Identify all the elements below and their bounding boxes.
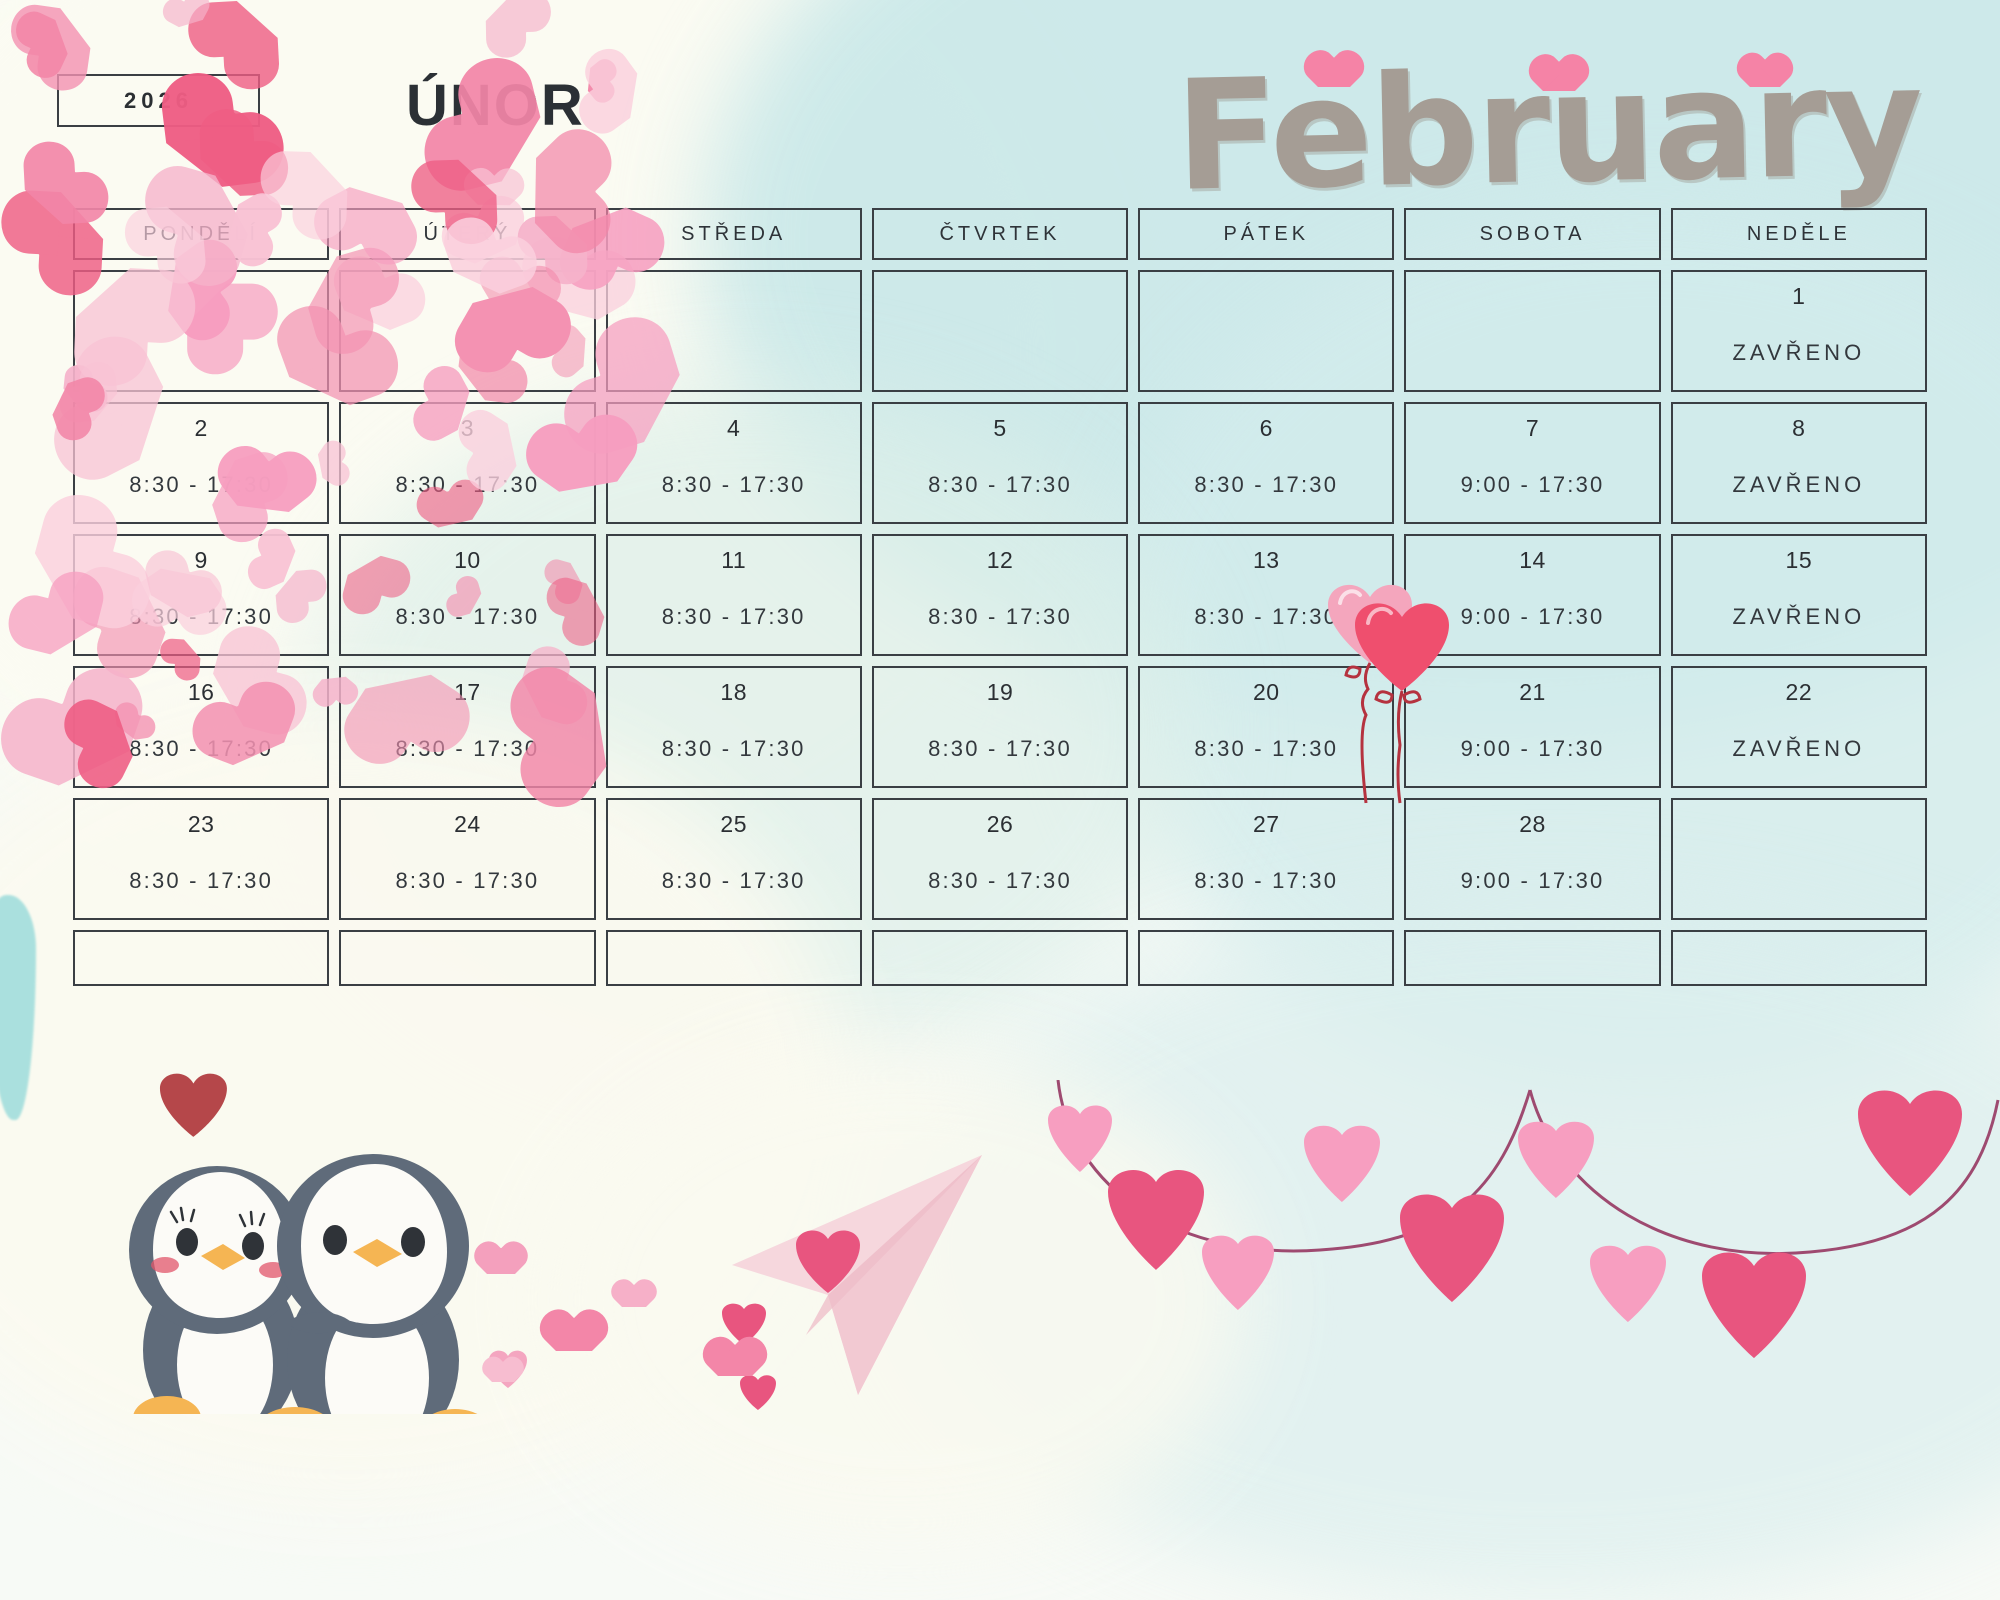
day-number: 2 — [75, 415, 327, 442]
weekday-header-label: SOBOTA — [1480, 223, 1586, 246]
opening-hours: 8:30 - 17:30 — [608, 868, 860, 894]
decor-heart-icon — [1750, 60, 1780, 87]
weekday-header-label: STŘEDA — [681, 223, 786, 246]
decor-heart-icon — [487, 1248, 515, 1274]
calendar-day-cell[interactable]: 79:00 - 17:30 — [1404, 402, 1660, 524]
calendar-day-cell[interactable] — [1138, 270, 1394, 392]
calendar-day-cell[interactable]: 258:30 - 17:30 — [606, 798, 862, 920]
weekday-header-cell: ÚTERÝ — [339, 208, 595, 260]
calendar-day-cell[interactable] — [872, 930, 1128, 986]
calendar-day-cell[interactable]: 38:30 - 17:30 — [339, 402, 595, 524]
calendar-day-cell[interactable]: 15ZAVŘENO — [1671, 534, 1927, 656]
day-number: 1 — [1673, 283, 1925, 310]
opening-hours: 8:30 - 17:30 — [608, 736, 860, 762]
calendar-day-cell[interactable]: 188:30 - 17:30 — [606, 666, 862, 788]
day-number: 12 — [874, 547, 1126, 574]
calendar-day-cell[interactable]: 278:30 - 17:30 — [1138, 798, 1394, 920]
day-number: 28 — [1406, 811, 1658, 838]
calendar-day-cell[interactable]: 128:30 - 17:30 — [872, 534, 1128, 656]
calendar-day-cell[interactable]: 198:30 - 17:30 — [872, 666, 1128, 788]
year-box: 2026 — [57, 74, 260, 127]
decor-heart-icon — [622, 1285, 646, 1307]
opening-hours: 8:30 - 17:30 — [608, 472, 860, 498]
weekday-header-cell: SOBOTA — [1404, 208, 1660, 260]
paper-plane-icon — [710, 1145, 1040, 1415]
decor-heart-icon — [1543, 62, 1575, 91]
calendar-day-cell[interactable]: 8ZAVŘENO — [1671, 402, 1927, 524]
day-number: 27 — [1140, 811, 1392, 838]
opening-hours: 8:30 - 17:30 — [75, 868, 327, 894]
weekday-header-label: NEDĚLE — [1747, 223, 1851, 246]
year-label: 2026 — [124, 88, 193, 114]
calendar-day-cell[interactable]: 238:30 - 17:30 — [73, 798, 329, 920]
calendar-day-cell[interactable] — [1138, 930, 1394, 986]
opening-hours: 8:30 - 17:30 — [874, 736, 1126, 762]
calendar-day-cell[interactable]: 58:30 - 17:30 — [872, 402, 1128, 524]
day-number: 15 — [1673, 547, 1925, 574]
calendar-day-cell[interactable]: 108:30 - 17:30 — [339, 534, 595, 656]
day-number: 10 — [341, 547, 593, 574]
calendar-day-cell[interactable]: 98:30 - 17:30 — [73, 534, 329, 656]
weekday-header-cell: PÁTEK — [1138, 208, 1394, 260]
weekday-header-label: ÚTERÝ — [424, 223, 512, 246]
weekday-header-cell: PONDĚLÍ — [73, 208, 329, 260]
calendar-day-cell[interactable]: 178:30 - 17:30 — [339, 666, 595, 788]
penguin-pair-illustration — [95, 1060, 535, 1414]
calendar-day-cell[interactable]: 48:30 - 17:30 — [606, 402, 862, 524]
weekday-header-label: PONDĚLÍ — [143, 223, 259, 246]
day-number: 4 — [608, 415, 860, 442]
weekday-header-cell: ČTVRTEK — [872, 208, 1128, 260]
opening-hours: 8:30 - 17:30 — [608, 604, 860, 630]
calendar-day-cell[interactable]: 28:30 - 17:30 — [73, 402, 329, 524]
calendar-day-cell[interactable] — [73, 930, 329, 986]
closed-label: ZAVŘENO — [1673, 736, 1925, 762]
calendar-grid: PONDĚLÍ ÚTERÝ STŘEDA ČTVRTEK PÁTEK SOBOT… — [73, 208, 1927, 996]
calendar-day-cell[interactable] — [1404, 270, 1660, 392]
decor-heart-icon — [718, 1345, 752, 1376]
calendar-day-cell[interactable] — [872, 270, 1128, 392]
opening-hours: 8:30 - 17:30 — [1140, 472, 1392, 498]
calendar-day-cell[interactable]: 248:30 - 17:30 — [339, 798, 595, 920]
weekday-header-row: PONDĚLÍ ÚTERÝ STŘEDA ČTVRTEK PÁTEK SOBOT… — [73, 208, 1927, 260]
day-number: 9 — [75, 547, 327, 574]
closed-label: ZAVŘENO — [1673, 340, 1925, 366]
day-number: 22 — [1673, 679, 1925, 706]
day-number: 11 — [608, 547, 860, 574]
opening-hours: 8:30 - 17:30 — [1140, 868, 1392, 894]
calendar-day-cell[interactable]: 168:30 - 17:30 — [73, 666, 329, 788]
closed-label: ZAVŘENO — [1673, 472, 1925, 498]
weekday-header-label: ČTVRTEK — [939, 223, 1060, 246]
calendar-day-cell[interactable] — [339, 270, 595, 392]
day-number: 18 — [608, 679, 860, 706]
calendar-day-cell[interactable] — [1404, 930, 1660, 986]
opening-hours: 8:30 - 17:30 — [75, 472, 327, 498]
month-title-cz: ÚNOR — [406, 72, 585, 139]
calendar-week-row: 238:30 - 17:30248:30 - 17:30258:30 - 17:… — [73, 798, 1927, 920]
calendar-day-cell[interactable] — [1671, 798, 1927, 920]
opening-hours: 8:30 - 17:30 — [874, 604, 1126, 630]
weekday-header-cell: STŘEDA — [606, 208, 862, 260]
day-number: 23 — [75, 811, 327, 838]
day-number: 25 — [608, 811, 860, 838]
day-number: 7 — [1406, 415, 1658, 442]
closed-label: ZAVŘENO — [1673, 604, 1925, 630]
day-number: 8 — [1673, 415, 1925, 442]
day-number: 24 — [341, 811, 593, 838]
calendar-day-cell[interactable] — [1671, 930, 1927, 986]
calendar-day-cell[interactable] — [339, 930, 595, 986]
day-number: 26 — [874, 811, 1126, 838]
calendar-day-cell[interactable]: 118:30 - 17:30 — [606, 534, 862, 656]
decor-heart-icon — [492, 1362, 514, 1382]
opening-hours: 9:00 - 17:30 — [1406, 868, 1658, 894]
calendar-day-cell[interactable]: 289:00 - 17:30 — [1404, 798, 1660, 920]
opening-hours: 8:30 - 17:30 — [874, 868, 1126, 894]
calendar-day-cell[interactable] — [73, 270, 329, 392]
opening-hours: 8:30 - 17:30 — [341, 868, 593, 894]
calendar-day-cell[interactable]: 68:30 - 17:30 — [1138, 402, 1394, 524]
calendar-day-cell[interactable]: 1ZAVŘENO — [1671, 270, 1927, 392]
decor-heart-icon — [556, 1318, 592, 1351]
calendar-notes-row — [73, 930, 1927, 986]
day-number: 16 — [75, 679, 327, 706]
day-number: 17 — [341, 679, 593, 706]
calendar-week-row: 98:30 - 17:30108:30 - 17:30118:30 - 17:3… — [73, 534, 1927, 656]
calendar-day-cell[interactable] — [606, 930, 862, 986]
day-number: 5 — [874, 415, 1126, 442]
calendar-week-row: 28:30 - 17:3038:30 - 17:3048:30 - 17:305… — [73, 402, 1927, 524]
calendar-day-cell[interactable]: 22ZAVŘENO — [1671, 666, 1927, 788]
day-number: 3 — [341, 415, 593, 442]
opening-hours: 8:30 - 17:30 — [874, 472, 1126, 498]
day-number: 6 — [1140, 415, 1392, 442]
opening-hours: 9:00 - 17:30 — [1406, 472, 1658, 498]
calendar-day-cell[interactable]: 268:30 - 17:30 — [872, 798, 1128, 920]
opening-hours: 8:30 - 17:30 — [75, 604, 327, 630]
opening-hours: 8:30 - 17:30 — [341, 472, 593, 498]
calendar-day-cell[interactable] — [606, 270, 862, 392]
calendar-week-row: 168:30 - 17:30178:30 - 17:30188:30 - 17:… — [73, 666, 1927, 788]
calendar-week-row: 1ZAVŘENO — [73, 270, 1927, 392]
heart-garland-decoration — [1030, 1080, 2000, 1370]
opening-hours: 8:30 - 17:30 — [341, 604, 593, 630]
heart-balloons-icon — [1300, 565, 1480, 805]
weekday-header-cell: NEDĚLE — [1671, 208, 1927, 260]
day-number: 19 — [874, 679, 1126, 706]
decor-heart-icon — [1318, 58, 1350, 87]
opening-hours: 8:30 - 17:30 — [341, 736, 593, 762]
weekday-header-label: PÁTEK — [1223, 223, 1309, 246]
opening-hours: 8:30 - 17:30 — [75, 736, 327, 762]
